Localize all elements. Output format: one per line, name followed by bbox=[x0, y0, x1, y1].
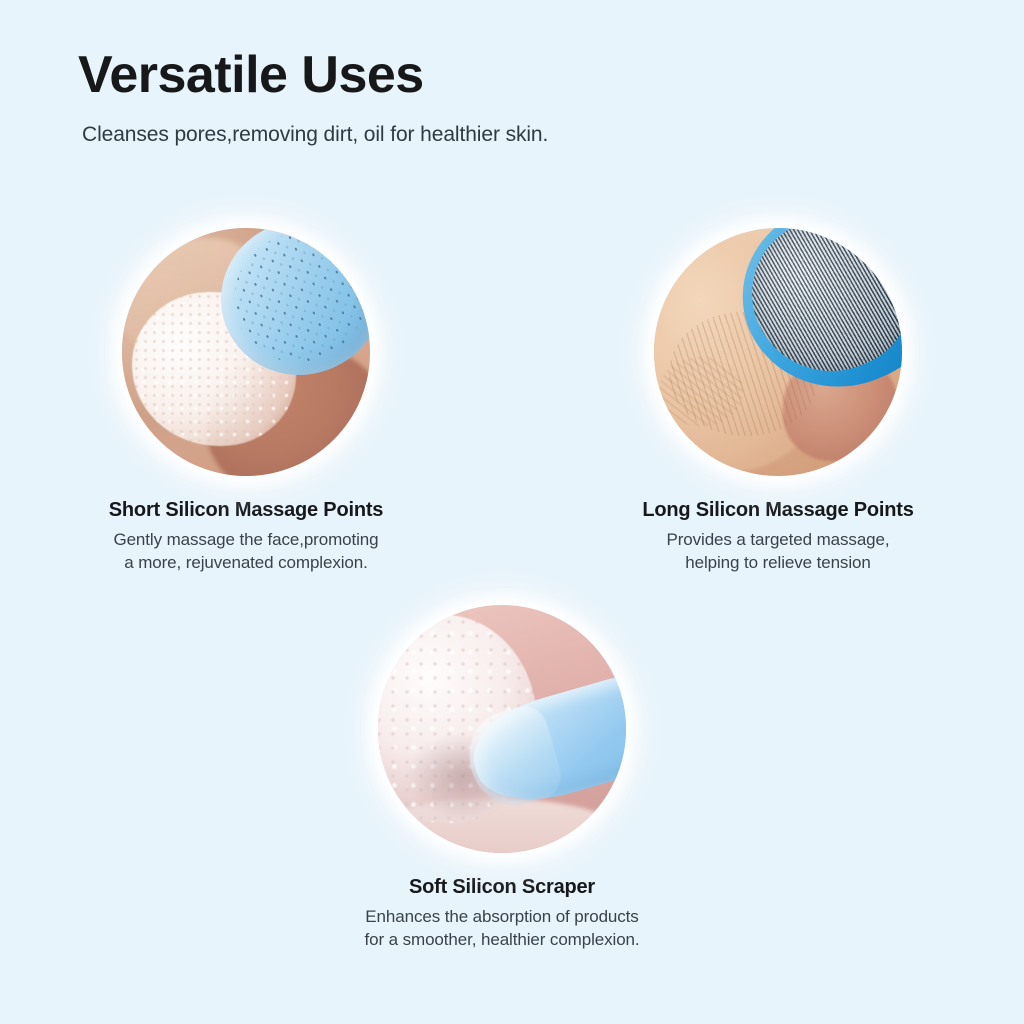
feature-desc-2-line1: Provides a targeted massage, bbox=[550, 529, 1006, 552]
feature-title-1: Short Silicon Massage Points bbox=[18, 498, 474, 522]
feature-desc-3: Enhances the absorption of products for … bbox=[274, 906, 730, 951]
feature-soft-silicon-scraper: Soft Silicon Scraper Enhances the absorp… bbox=[256, 605, 748, 951]
feature-desc-2: Provides a targeted massage, helping to … bbox=[550, 529, 1006, 574]
circle-photo-scraper bbox=[378, 605, 626, 853]
feature-desc-1-line2: a more, rejuvenated complexion. bbox=[18, 552, 474, 575]
page-subtitle: Cleanses pores,removing dirt, oil for he… bbox=[82, 123, 548, 147]
caption-3: Soft Silicon Scraper Enhances the absorp… bbox=[256, 875, 748, 951]
caption-1: Short Silicon Massage Points Gently mass… bbox=[0, 498, 492, 574]
circle-photo-long-points bbox=[654, 228, 902, 476]
feature-image-1 bbox=[122, 228, 370, 476]
infographic-page: Versatile Uses Cleanses pores,removing d… bbox=[0, 0, 1024, 1024]
feature-desc-1-line1: Gently massage the face,promoting bbox=[18, 529, 474, 552]
feature-image-2 bbox=[654, 228, 902, 476]
feature-short-silicon-massage-points: Short Silicon Massage Points Gently mass… bbox=[0, 228, 492, 574]
feature-long-silicon-massage-points: Long Silicon Massage Points Provides a t… bbox=[532, 228, 1024, 574]
page-title: Versatile Uses bbox=[78, 48, 424, 103]
feature-title-2: Long Silicon Massage Points bbox=[550, 498, 1006, 522]
skin-streaks-secondary-icon bbox=[659, 357, 743, 426]
feature-title-3: Soft Silicon Scraper bbox=[274, 875, 730, 899]
feature-desc-3-line1: Enhances the absorption of products bbox=[274, 906, 730, 929]
circle-photo-short-points bbox=[122, 228, 370, 476]
feature-desc-3-line2: for a smoother, healthier complexion. bbox=[274, 929, 730, 952]
feature-desc-1: Gently massage the face,promoting a more… bbox=[18, 529, 474, 574]
feature-image-3 bbox=[378, 605, 626, 853]
feature-desc-2-line2: helping to relieve tension bbox=[550, 552, 1006, 575]
caption-2: Long Silicon Massage Points Provides a t… bbox=[532, 498, 1024, 574]
